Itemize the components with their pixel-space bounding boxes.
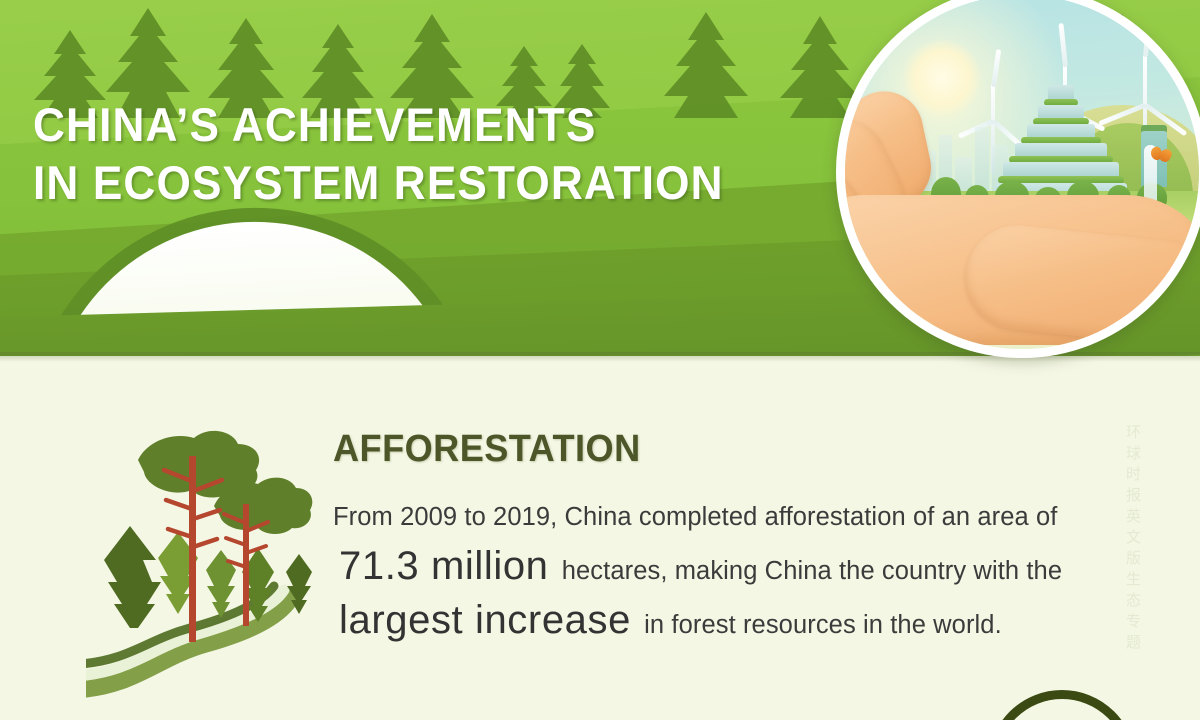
hand-holding-green-city-illustration	[836, 0, 1200, 358]
forest-with-winding-path-illustration	[86, 418, 336, 698]
section-afforestation: AFFORESTATION From 2009 to 2019, China c…	[0, 356, 1200, 720]
afforestation-text-block: AFFORESTATION From 2009 to 2019, China c…	[333, 428, 1113, 650]
emphasized-stat: 71.3 million	[333, 544, 555, 588]
body-text-run: hectares, making China the country with …	[555, 557, 1063, 585]
page-title: CHINA’S ACHIEVEMENTS IN ECOSYSTEM RESTOR…	[33, 96, 785, 212]
emphasized-stat: largest increase	[333, 598, 637, 642]
body-text-run: in forest resources in the world.	[637, 611, 1002, 639]
watermark-text: 环球时报英文版生态专题	[1121, 424, 1144, 655]
human-hand	[836, 83, 1200, 358]
section-body-text: From 2009 to 2019, China completed affor…	[333, 493, 1108, 650]
body-text-run: From 2009 to 2019, China completed affor…	[333, 503, 1057, 531]
section-heading: AFFORESTATION	[333, 428, 1074, 471]
infographic-page: CHINA’S ACHIEVEMENTS IN ECOSYSTEM RESTOR…	[0, 0, 1200, 720]
fir-tree-icon	[104, 526, 161, 628]
